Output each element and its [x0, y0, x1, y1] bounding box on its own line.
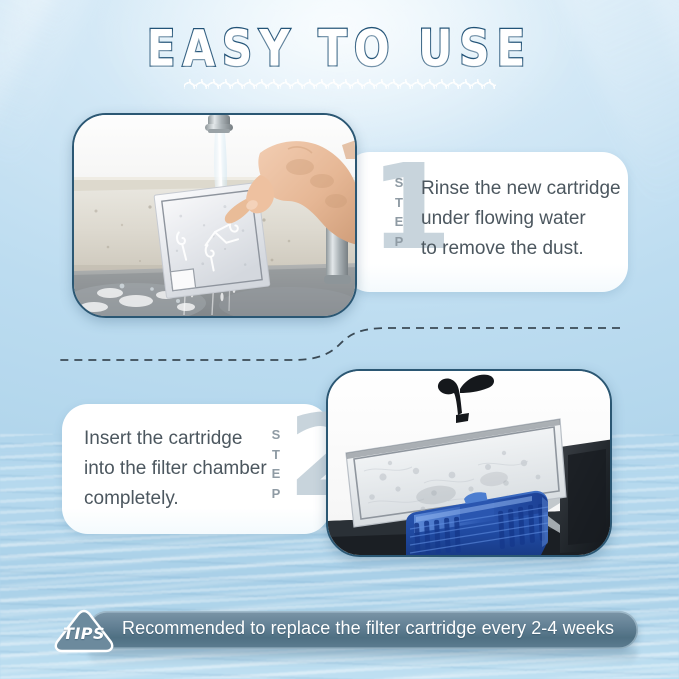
- step-1-description: Rinse the new cartridge under flowing wa…: [421, 174, 621, 264]
- step-2-photo-image: [328, 371, 610, 555]
- insert-cartridge-illustration: [328, 371, 612, 557]
- tips-badge: TIPS: [50, 608, 118, 654]
- step-1-photo-image: [74, 115, 355, 316]
- tips-bar-reflection: [88, 650, 638, 666]
- page-title-block: EASY TO USE: [0, 24, 679, 89]
- step-1-photo: [72, 113, 357, 318]
- tips-banner: Recommended to replace the filter cartri…: [50, 608, 638, 654]
- page-title: EASY TO USE: [147, 24, 533, 74]
- step-1-step-label: STEP: [392, 173, 406, 251]
- step-1-text-card: 1 STEP Rinse the new cartridge under flo…: [344, 152, 628, 292]
- tips-text: Recommended to replace the filter cartri…: [122, 618, 614, 639]
- wave-underline-divider: [184, 79, 496, 89]
- step-connector: [0, 300, 679, 370]
- rinse-cartridge-illustration: [74, 115, 357, 318]
- step-2-photo: [326, 369, 612, 557]
- step-2-step-label: STEP: [269, 425, 283, 503]
- tips-badge-label: TIPS: [50, 624, 118, 643]
- step-2-description: Insert the cartridge into the filter cha…: [84, 424, 267, 514]
- dashed-connector-line: [0, 300, 679, 370]
